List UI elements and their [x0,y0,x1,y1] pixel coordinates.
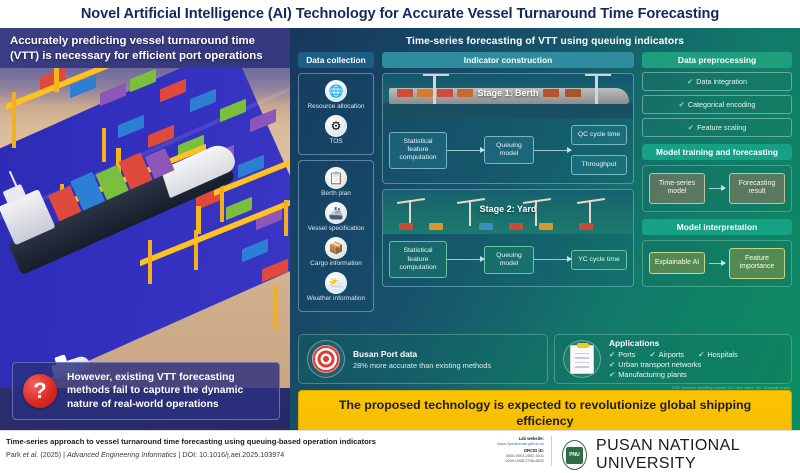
results-area: Busan Port data 28% more accurate than e… [296,334,794,438]
journal-name: Advanced Engineering Informatics [67,450,176,459]
check-icon: ✔ [609,360,615,369]
stage2-node-statistical: Statistical feature computation [389,241,447,278]
model-training-header: Model training and forecasting [642,144,792,160]
stage-2-yard: Stage 2: Yard Statistical feature comput… [382,189,634,287]
preprocessing-label: Feature scaling [697,123,746,132]
model-interpretation-boxes: Explainable AI Feature importance [642,240,792,287]
cargo-icon: 📦 [325,237,347,259]
university-seal-icon: PNU [562,440,587,470]
check-icon: ✔ [609,350,615,359]
check-icon: ✔ [679,100,685,109]
data-collection-column: Data collection 🌐 Resource allocation ⚙ … [298,52,374,312]
stage-1-flow: Statistical feature computation Queuing … [383,118,633,183]
diagram-panel: Time-series forecasting of VTT using que… [290,28,800,430]
box-feature-importance: Feature importance [729,248,785,279]
container-port-illustration [0,68,290,388]
stage1-outputs: QC cycle time Throughput [571,125,627,175]
applications-title: Applications [609,338,738,348]
data-source-label: TOS [301,138,371,146]
busan-card-title: Busan Port data [353,349,491,359]
busan-card-subtitle: 28% more accurate than existing methods [353,361,491,370]
diagram-title: Time-series forecasting of VTT using que… [296,32,794,52]
stage1-node-statistical: Statistical feature computation [389,132,447,169]
output-yc-cycle-time: YC cycle time [571,250,627,270]
check-icon: ✔ [687,77,693,86]
data-preprocessing-header: Data preprocessing [642,52,792,68]
applications-card: Applications ✔Ports ✔Airports ✔Hospitals… [554,334,792,384]
stage-1-berth: Stage 1: Berth Statistical feature compu… [382,73,634,184]
stage-2-label: Stage 2: Yard [383,204,633,214]
application-item: ✔Hospitals [698,350,738,360]
orcid-id-2: 0009-0008-2796-8632 [466,458,544,463]
data-source-item: 📦 Cargo information [301,237,371,268]
data-collection-header: Data collection [298,52,374,68]
preprocessing-label: Categorical encoding [688,100,756,109]
application-item: ✔Ports [609,350,635,360]
citation-authors: Park [6,450,23,459]
berth-plan-icon: 📋 [325,167,347,189]
data-source-item: 🚢 Vessel specification [301,202,371,233]
page-title-bar: Novel Artificial Intelligence (AI) Techn… [0,0,800,28]
doi-text: | DOI: 10.1016/j.aei.2025.103974 [177,450,285,459]
model-interpretation-header: Model interpretation [642,219,792,235]
problem-statement-text: However, existing VTT forecasting method… [67,371,269,412]
lab-orcid-block: Lab website: https://pnulberlab.github.i… [466,436,552,466]
check-icon: ✔ [609,370,615,379]
output-qc-cycle-time: QC cycle time [571,125,627,145]
flow-arrow [447,259,484,260]
vessel-icon: 🚢 [325,202,347,224]
globe-icon: 🌐 [325,80,347,102]
data-source-label: Berth plan [301,190,371,198]
application-item: ✔Urban transport networks [609,360,738,370]
data-source-item: ⚙ TOS [301,115,371,146]
question-mark-icon: ? [23,374,57,408]
data-source-label: Cargo information [301,260,371,268]
right-process-column: Data preprocessing ✔Data integration ✔Ca… [642,52,792,287]
check-icon: ✔ [649,350,655,359]
flow-arrow [534,150,571,151]
citation-year: (2025) | [38,450,67,459]
indicator-construction-header: Indicator construction [382,52,634,68]
model-training-boxes: Time-series model Forecasting result [642,165,792,212]
citation-block: Time-series approach to vessel turnaroun… [6,437,376,459]
data-source-item: 📋 Berth plan [301,167,371,198]
stage-2-flow: Statistical feature computation Queuing … [383,234,633,286]
data-source-label: Weather information [301,295,371,303]
application-label: Airports [659,350,684,359]
box-forecasting-result: Forecasting result [729,173,785,204]
preprocessing-item: ✔Categorical encoding [642,95,792,114]
seal-inner: PNU [566,447,583,464]
flow-arrow [709,188,725,189]
flow-arrow [709,263,725,264]
box-explainable-ai: Explainable AI [649,252,705,274]
footer: Time-series approach to vessel turnaroun… [0,430,800,471]
box-time-series-model: Time-series model [649,173,705,204]
university-branding: PNU PUSAN NATIONAL UNIVERSITY [562,437,800,473]
data-source-label: Vessel specification [301,225,371,233]
indicator-construction-column: Indicator construction Stage [382,52,634,287]
left-headline: Accurately predicting vessel turnaround … [10,34,282,64]
weather-icon: ⛅ [325,272,347,294]
flow-diagram: Data collection 🌐 Resource allocation ⚙ … [296,52,794,330]
application-label: Ports [618,350,635,359]
lab-website-url[interactable]: https://pnulberlab.github.io/ [466,441,544,446]
flow-arrow [447,150,484,151]
berth-illustration: Stage 1: Berth [383,74,633,118]
problem-statement-box: ? However, existing VTT forecasting meth… [12,362,280,420]
preprocessing-label: Data integration [696,77,747,86]
application-item: ✔Airports [649,350,684,360]
data-source-item: 🌐 Resource allocation [301,80,371,111]
page-title: Novel Artificial Intelligence (AI) Techn… [81,6,719,22]
stage1-node-queuing: Queuing model [484,136,534,164]
flow-arrow [534,259,571,260]
busan-port-data-card: Busan Port data 28% more accurate than e… [298,334,548,384]
application-label: Manufacturing plants [618,370,687,379]
stage2-node-queuing: Queuing model [484,246,534,274]
left-panel: Accurately predicting vessel turnaround … [0,28,290,430]
tos-monitor-icon: ⚙ [325,115,347,137]
infographic-canvas: Accurately predicting vessel turnaround … [0,28,800,430]
citation-line: Park et al. (2025) | Advanced Engineerin… [6,450,376,459]
application-label: Hospitals [707,350,737,359]
application-item: ✔Manufacturing plants [609,370,738,380]
data-collection-group-2: 📋 Berth plan 🚢 Vessel specification 📦 Ca… [298,160,374,312]
stage-1-label: Stage 1: Berth [383,88,633,98]
data-source-label: Resource allocation [301,103,371,111]
preprocessing-item: ✔Feature scaling [642,118,792,137]
data-collection-group-1: 🌐 Resource allocation ⚙ TOS [298,73,374,155]
citation-etal: et al. [23,450,39,459]
paper-title: Time-series approach to vessel turnaroun… [6,437,376,446]
output-throughput: Throughput [571,155,627,175]
data-source-item: ⛅ Weather information [301,272,371,303]
yard-illustration: Stage 2: Yard [383,190,633,234]
target-dartboard-icon [307,340,345,378]
check-icon: ✔ [698,350,704,359]
application-label: Urban transport networks [618,360,701,369]
check-icon: ✔ [688,123,694,132]
clipboard-checklist-icon [563,340,601,378]
university-name: PUSAN NATIONAL UNIVERSITY [596,437,800,473]
gantry-crane [6,74,116,164]
preprocessing-item: ✔Data integration [642,72,792,91]
